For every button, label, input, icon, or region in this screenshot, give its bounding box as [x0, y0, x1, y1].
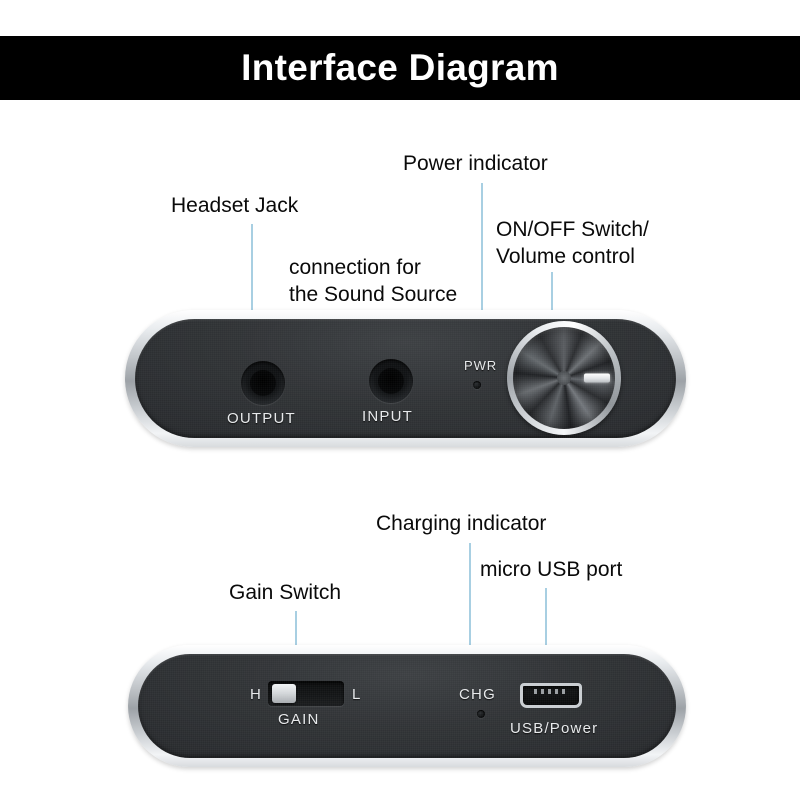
output-jack-label: OUTPUT — [227, 410, 296, 427]
charge-indicator-label: CHG — [459, 686, 496, 703]
callout-label-gain-switch: Gain Switch — [229, 579, 341, 606]
front-panel-face: OUTPUT INPUT PWR — [135, 319, 676, 438]
gain-switch[interactable] — [268, 681, 344, 706]
input-jack[interactable] — [369, 359, 413, 403]
callout-label-micro-usb-port: micro USB port — [480, 556, 622, 583]
gain-high-label: H — [250, 686, 262, 703]
interface-diagram-page: Interface Diagram Headset Jack connectio… — [0, 0, 800, 800]
volume-knob-face — [513, 327, 615, 429]
output-jack[interactable] — [241, 361, 285, 405]
page-title: Interface Diagram — [241, 47, 559, 89]
rear-panel-device: H L GAIN CHG USB/Power — [128, 645, 686, 767]
callout-label-charging-indicator: Charging indicator — [376, 510, 546, 537]
gain-label: GAIN — [278, 711, 319, 728]
gain-switch-knob[interactable] — [272, 684, 296, 703]
input-jack-label: INPUT — [362, 408, 413, 425]
volume-knob-indicator-icon — [584, 374, 610, 383]
usb-power-label: USB/Power — [510, 720, 598, 737]
charge-led-icon — [477, 710, 485, 718]
front-panel-device: OUTPUT INPUT PWR — [125, 310, 686, 447]
callout-label-power-indicator: Power indicator — [403, 150, 548, 177]
callout-label-headset-jack: Headset Jack — [171, 192, 298, 219]
power-indicator-label: PWR — [464, 358, 497, 373]
usb-contacts-icon — [534, 689, 568, 694]
callout-label-sound-source: connection for the Sound Source — [289, 254, 457, 308]
power-led-icon — [473, 381, 481, 389]
rear-panel-face: H L GAIN CHG USB/Power — [138, 654, 676, 758]
micro-usb-port[interactable] — [520, 683, 582, 708]
volume-knob[interactable] — [507, 321, 621, 435]
callout-label-onoff-volume: ON/OFF Switch/ Volume control — [496, 216, 649, 270]
gain-low-label: L — [352, 686, 362, 703]
title-banner: Interface Diagram — [0, 36, 800, 100]
